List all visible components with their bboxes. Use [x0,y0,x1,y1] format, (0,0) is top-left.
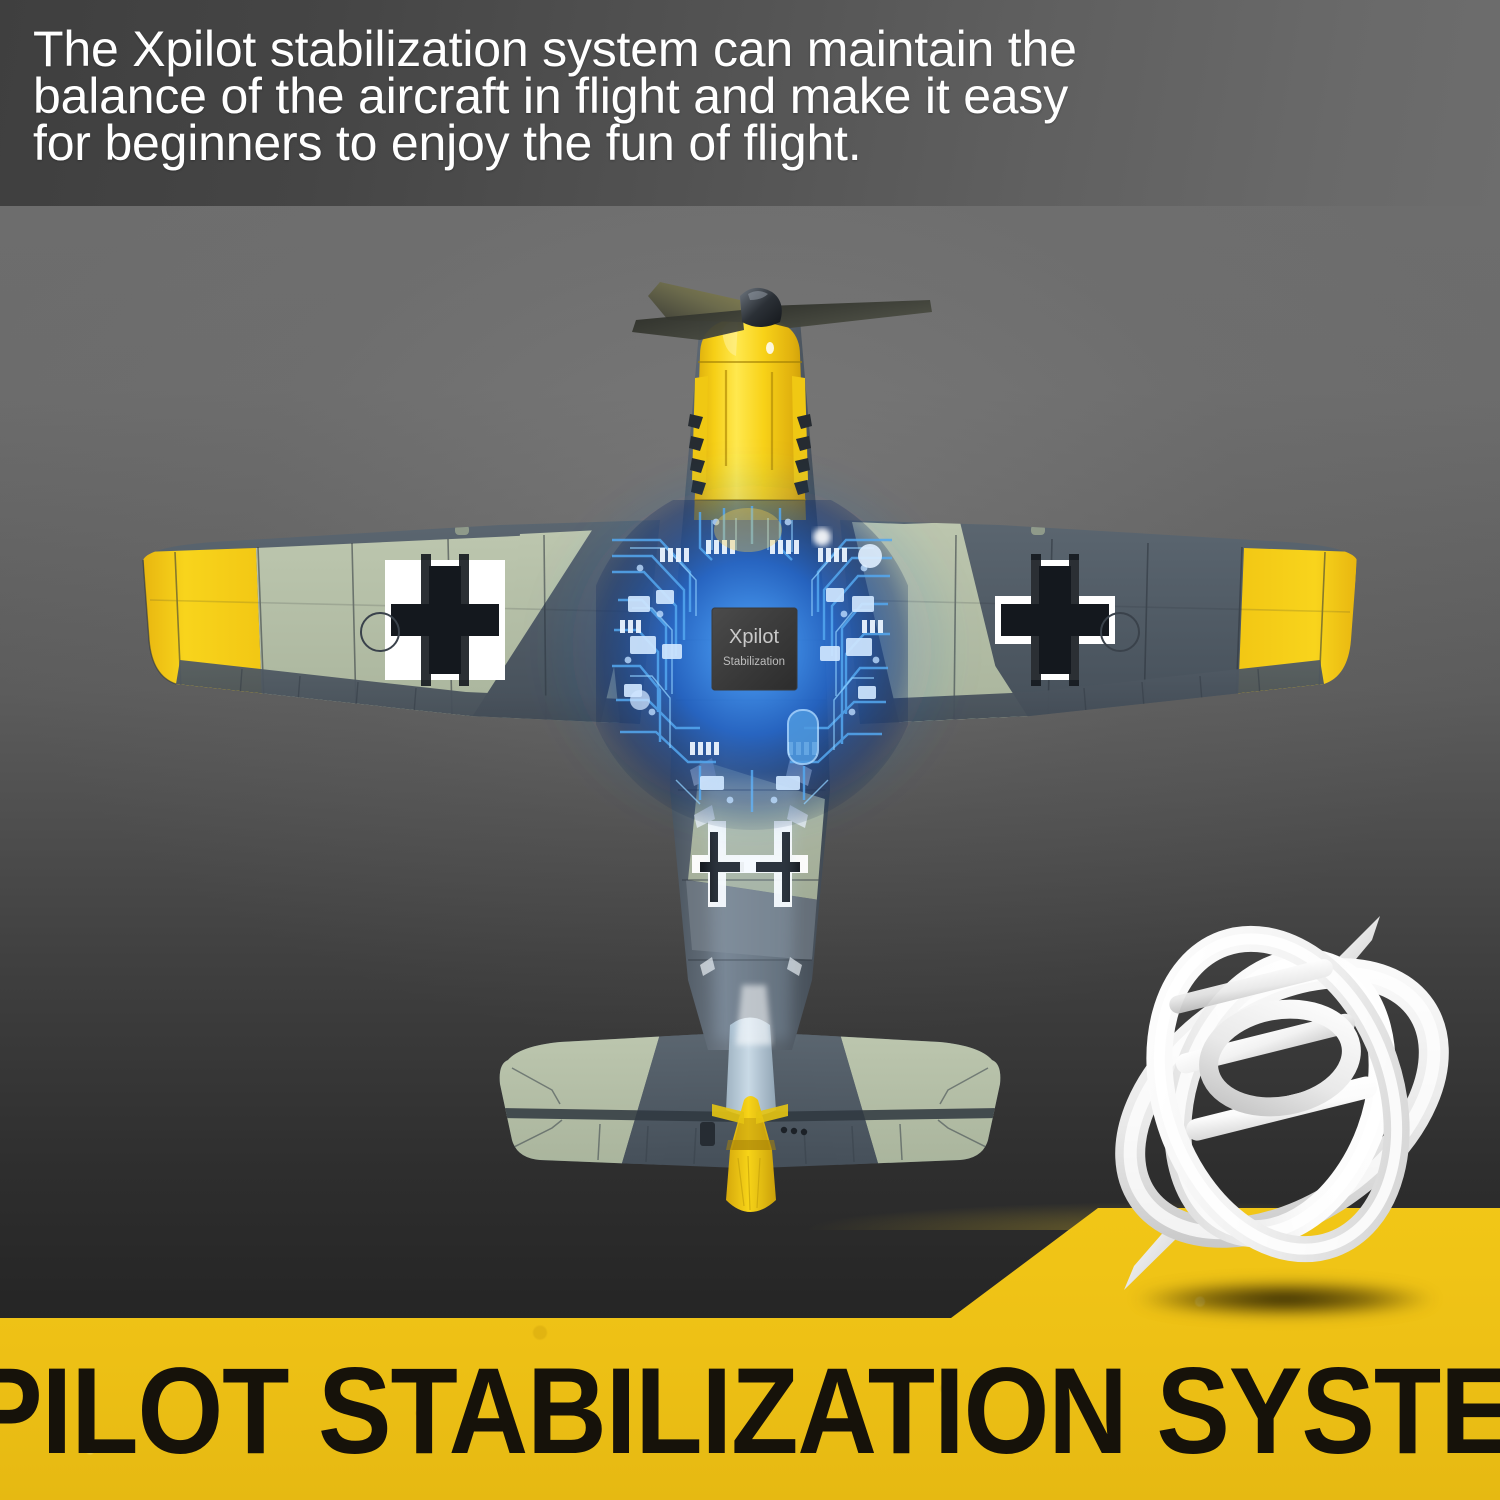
gyroscope-icon [1082,898,1482,1318]
banner-title-wrap: XPILOT STABILIZATION SYSTEM [0,1352,1500,1472]
product-feature-slide: The Xpilot stabilization system can main… [0,0,1500,1500]
banner-title-text: XPILOT STABILIZATION SYSTEM [0,1342,1500,1482]
chip-brand-label: Xpilot [729,626,779,648]
balkenkreuz-wing-left [385,554,505,686]
chip-function-label: Stabilization [723,656,785,668]
xpilot-chip: Xpilot Stabilization [712,608,797,690]
circuit-board-overlay: Xpilot Stabilization [537,460,967,1045]
